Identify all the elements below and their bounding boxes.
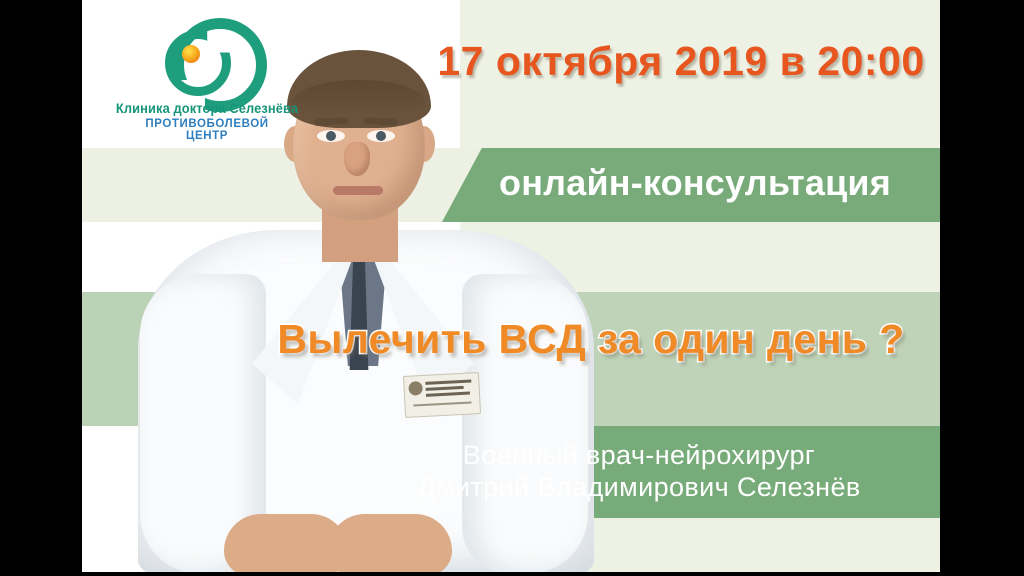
eye-right xyxy=(367,130,395,142)
speaker-role: Военный врач-нейрохирург xyxy=(344,440,934,472)
badge-line-surname xyxy=(425,379,471,384)
letterbox-left xyxy=(0,0,82,576)
hand-right xyxy=(328,514,452,574)
badge-emblem-icon xyxy=(408,381,423,396)
letterbox-right xyxy=(940,0,1024,576)
letterbox-bottom xyxy=(0,572,1024,576)
clinic-logo-line3: ЦЕНТР xyxy=(92,130,322,142)
headline-question: Вылечить ВСД за один день ? xyxy=(242,316,940,363)
clinic-logo: Клиника доктора Селезнёва ПРОТИВОБОЛЕВОЙ… xyxy=(92,18,322,142)
logo-sun-icon xyxy=(182,45,200,63)
badge-line-patronymic xyxy=(426,392,470,397)
nose xyxy=(344,142,370,176)
name-badge xyxy=(403,372,481,418)
promo-poster: онлайн-консультация xyxy=(0,0,1024,576)
event-date-time: 17 октября 2019 в 20:00 xyxy=(422,38,940,85)
speaker-block: Военный врач-нейрохирург Дмитрий Владими… xyxy=(344,440,934,504)
clinic-logo-mark-icon xyxy=(165,18,249,94)
mouth xyxy=(333,186,383,195)
badge-line-title xyxy=(413,401,471,406)
clinic-logo-line1: Клиника доктора Селезнёва xyxy=(101,100,313,116)
speaker-name: Дмитрий Владимирович Селезнёв xyxy=(344,472,934,504)
badge-line-firstname xyxy=(426,386,464,391)
poster-content-plate: онлайн-консультация xyxy=(82,0,940,574)
clinic-logo-line2: ПРОТИВОБОЛЕВОЙ xyxy=(92,118,322,130)
